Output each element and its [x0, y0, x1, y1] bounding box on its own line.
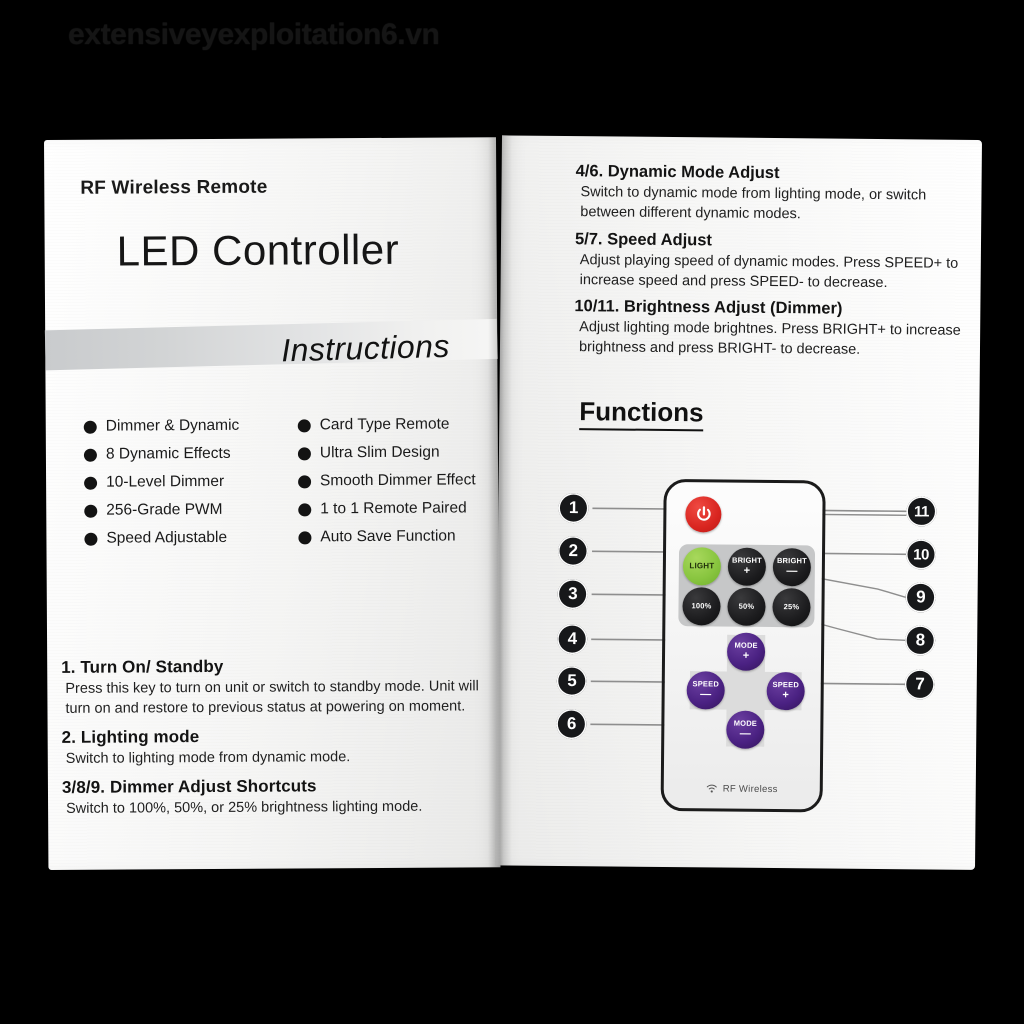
instruction-step: 5/7. Speed Adjust Adjust playing speed o…: [575, 230, 982, 294]
speed-up-label: SPEED: [773, 681, 800, 689]
bullet-icon: [84, 420, 97, 433]
feature-label: 256-Grade PWM: [106, 501, 222, 520]
step-body: Adjust playing speed of dynamic modes. P…: [575, 250, 981, 294]
instruction-steps-right: 4/6. Dynamic Mode Adjust Switch to dynam…: [574, 162, 982, 369]
step-body: Adjust lighting mode brightnes. Press BR…: [574, 317, 980, 361]
callout-9[interactable]: 9: [905, 582, 935, 612]
callout-4[interactable]: 4: [557, 624, 587, 654]
bullet-icon: [298, 447, 311, 460]
feature-label: Dimmer & Dynamic: [106, 417, 240, 436]
preset-25-button[interactable]: 25%: [772, 588, 810, 626]
mode-up-button[interactable]: MODE +: [727, 633, 765, 671]
instruction-step: 1. Turn On/ Standby Press this key to tu…: [61, 655, 499, 719]
speed-down-button[interactable]: SPEED —: [687, 671, 725, 709]
list-item: Speed Adjustable: [84, 529, 276, 548]
rf-wireless-label: RF Wireless: [723, 783, 778, 795]
step-body: Switch to 100%, 50%, or 25% brightness l…: [62, 796, 500, 819]
step-heading: 10/11. Brightness Adjust (Dimmer): [574, 297, 980, 320]
step-heading: 3/8/9. Dimmer Adjust Shortcuts: [62, 775, 500, 798]
light-button-label: LIGHT: [689, 562, 714, 570]
speed-up-sign: +: [782, 690, 789, 701]
step-heading: 4/6. Dynamic Mode Adjust: [576, 162, 982, 185]
bullet-icon: [298, 419, 311, 432]
page-subtitle: Instructions: [281, 328, 450, 370]
step-body: Switch to lighting mode from dynamic mod…: [62, 746, 500, 769]
step-heading: 2. Lighting mode: [62, 725, 500, 748]
feature-label: 1 to 1 Remote Paired: [320, 499, 467, 518]
bullet-icon: [84, 448, 97, 461]
screenshot-root: extensiveyexploitation6.vn RF Wireless R…: [0, 0, 1024, 1024]
callout-6[interactable]: 6: [556, 709, 586, 739]
mode-down-sign: —: [740, 728, 751, 739]
mode-down-button[interactable]: MODE —: [726, 711, 764, 749]
bright-down-button[interactable]: BRIGHT —: [773, 548, 811, 586]
power-button[interactable]: [685, 496, 721, 532]
speed-up-button[interactable]: SPEED +: [767, 672, 805, 710]
feature-column-right: Card Type Remote Ultra Slim Design Smoot…: [298, 415, 485, 546]
callout-7[interactable]: 7: [905, 669, 935, 699]
instruction-step: 2. Lighting mode Switch to lighting mode…: [62, 725, 500, 769]
feature-label: Speed Adjustable: [106, 529, 227, 548]
list-item: 1 to 1 Remote Paired: [298, 499, 484, 518]
power-icon: [693, 504, 714, 525]
step-body: Switch to dynamic mode from lighting mod…: [575, 182, 981, 226]
light-button[interactable]: LIGHT: [683, 547, 721, 585]
page-title: LED Controller: [117, 226, 400, 276]
callout-3[interactable]: 3: [557, 579, 587, 609]
bright-up-sign: +: [744, 565, 751, 576]
preset-50-label: 50%: [739, 603, 755, 611]
direction-pad: MODE + SPEED — SPEED +: [689, 634, 802, 747]
bullet-icon: [84, 504, 97, 517]
feature-label: Card Type Remote: [320, 416, 450, 435]
callout-11[interactable]: 11: [906, 496, 936, 526]
booklet-right-page: 4/6. Dynamic Mode Adjust Switch to dynam…: [495, 135, 982, 870]
wireless-signal-icon: [706, 782, 718, 794]
instruction-step: 3/8/9. Dimmer Adjust Shortcuts Switch to…: [62, 775, 500, 819]
remote-control-body: LIGHT BRIGHT + BRIGHT — 100%: [661, 479, 826, 813]
rf-wireless-branding: RF Wireless: [664, 782, 820, 795]
list-item: Auto Save Function: [298, 527, 484, 546]
feature-label: 8 Dynamic Effects: [106, 445, 231, 464]
callout-5[interactable]: 5: [557, 666, 587, 696]
mode-up-sign: +: [743, 650, 750, 661]
instruction-step: 4/6. Dynamic Mode Adjust Switch to dynam…: [575, 162, 982, 226]
bullet-icon: [298, 503, 311, 516]
instruction-step: 10/11. Brightness Adjust (Dimmer) Adjust…: [574, 297, 981, 361]
feature-label: Auto Save Function: [320, 527, 455, 546]
list-item: 256-Grade PWM: [84, 501, 276, 520]
bright-down-sign: —: [786, 566, 797, 577]
list-item: 8 Dynamic Effects: [84, 445, 276, 464]
speed-down-sign: —: [700, 689, 711, 700]
preset-25-label: 25%: [784, 603, 800, 611]
list-item: Card Type Remote: [298, 415, 484, 434]
bright-up-label: BRIGHT: [732, 557, 762, 565]
callout-8[interactable]: 8: [905, 625, 935, 655]
list-item: Ultra Slim Design: [298, 443, 484, 462]
feature-list: Dimmer & Dynamic 8 Dynamic Effects 10-Le…: [84, 415, 485, 547]
step-heading: 5/7. Speed Adjust: [575, 230, 981, 253]
feature-column-left: Dimmer & Dynamic 8 Dynamic Effects 10-Le…: [84, 417, 277, 548]
callout-10[interactable]: 10: [906, 539, 936, 569]
preset-100-button[interactable]: 100%: [682, 587, 720, 625]
feature-label: Ultra Slim Design: [320, 444, 440, 463]
feature-label: Smooth Dimmer Effect: [320, 471, 476, 490]
list-item: Dimmer & Dynamic: [84, 417, 276, 436]
instruction-steps-left: 1. Turn On/ Standby Press this key to tu…: [61, 655, 500, 828]
mode-up-label: MODE: [734, 642, 757, 650]
bullet-icon: [84, 476, 97, 489]
watermark-text: extensiveyexploitation6.vn: [68, 18, 439, 52]
step-body: Press this key to turn on unit or switch…: [61, 676, 499, 719]
bright-down-label: BRIGHT: [777, 557, 807, 565]
keypad-panel: LIGHT BRIGHT + BRIGHT — 100%: [678, 544, 815, 627]
bright-up-button[interactable]: BRIGHT +: [728, 548, 766, 586]
instruction-booklet: RF Wireless Remote LED Controller Instru…: [44, 140, 982, 870]
feature-label: 10-Level Dimmer: [106, 473, 224, 492]
step-heading: 1. Turn On/ Standby: [61, 655, 499, 678]
list-item: Smooth Dimmer Effect: [298, 471, 484, 490]
bullet-icon: [298, 531, 311, 544]
speed-down-label: SPEED: [693, 680, 720, 688]
booklet-left-page: RF Wireless Remote LED Controller Instru…: [44, 137, 500, 870]
preset-100-label: 100%: [691, 602, 711, 610]
list-item: 10-Level Dimmer: [84, 473, 276, 492]
functions-heading: Functions: [579, 396, 704, 431]
mode-down-label: MODE: [734, 720, 757, 728]
preset-50-button[interactable]: 50%: [727, 588, 765, 626]
bullet-icon: [84, 532, 97, 545]
product-kicker: RF Wireless Remote: [80, 177, 267, 200]
remote-diagram: 1 2 3 4 5 6 11 10 9 8 7: [545, 476, 968, 830]
bullet-icon: [298, 475, 311, 488]
callout-2[interactable]: 2: [558, 536, 588, 566]
callout-1[interactable]: 1: [558, 493, 588, 523]
